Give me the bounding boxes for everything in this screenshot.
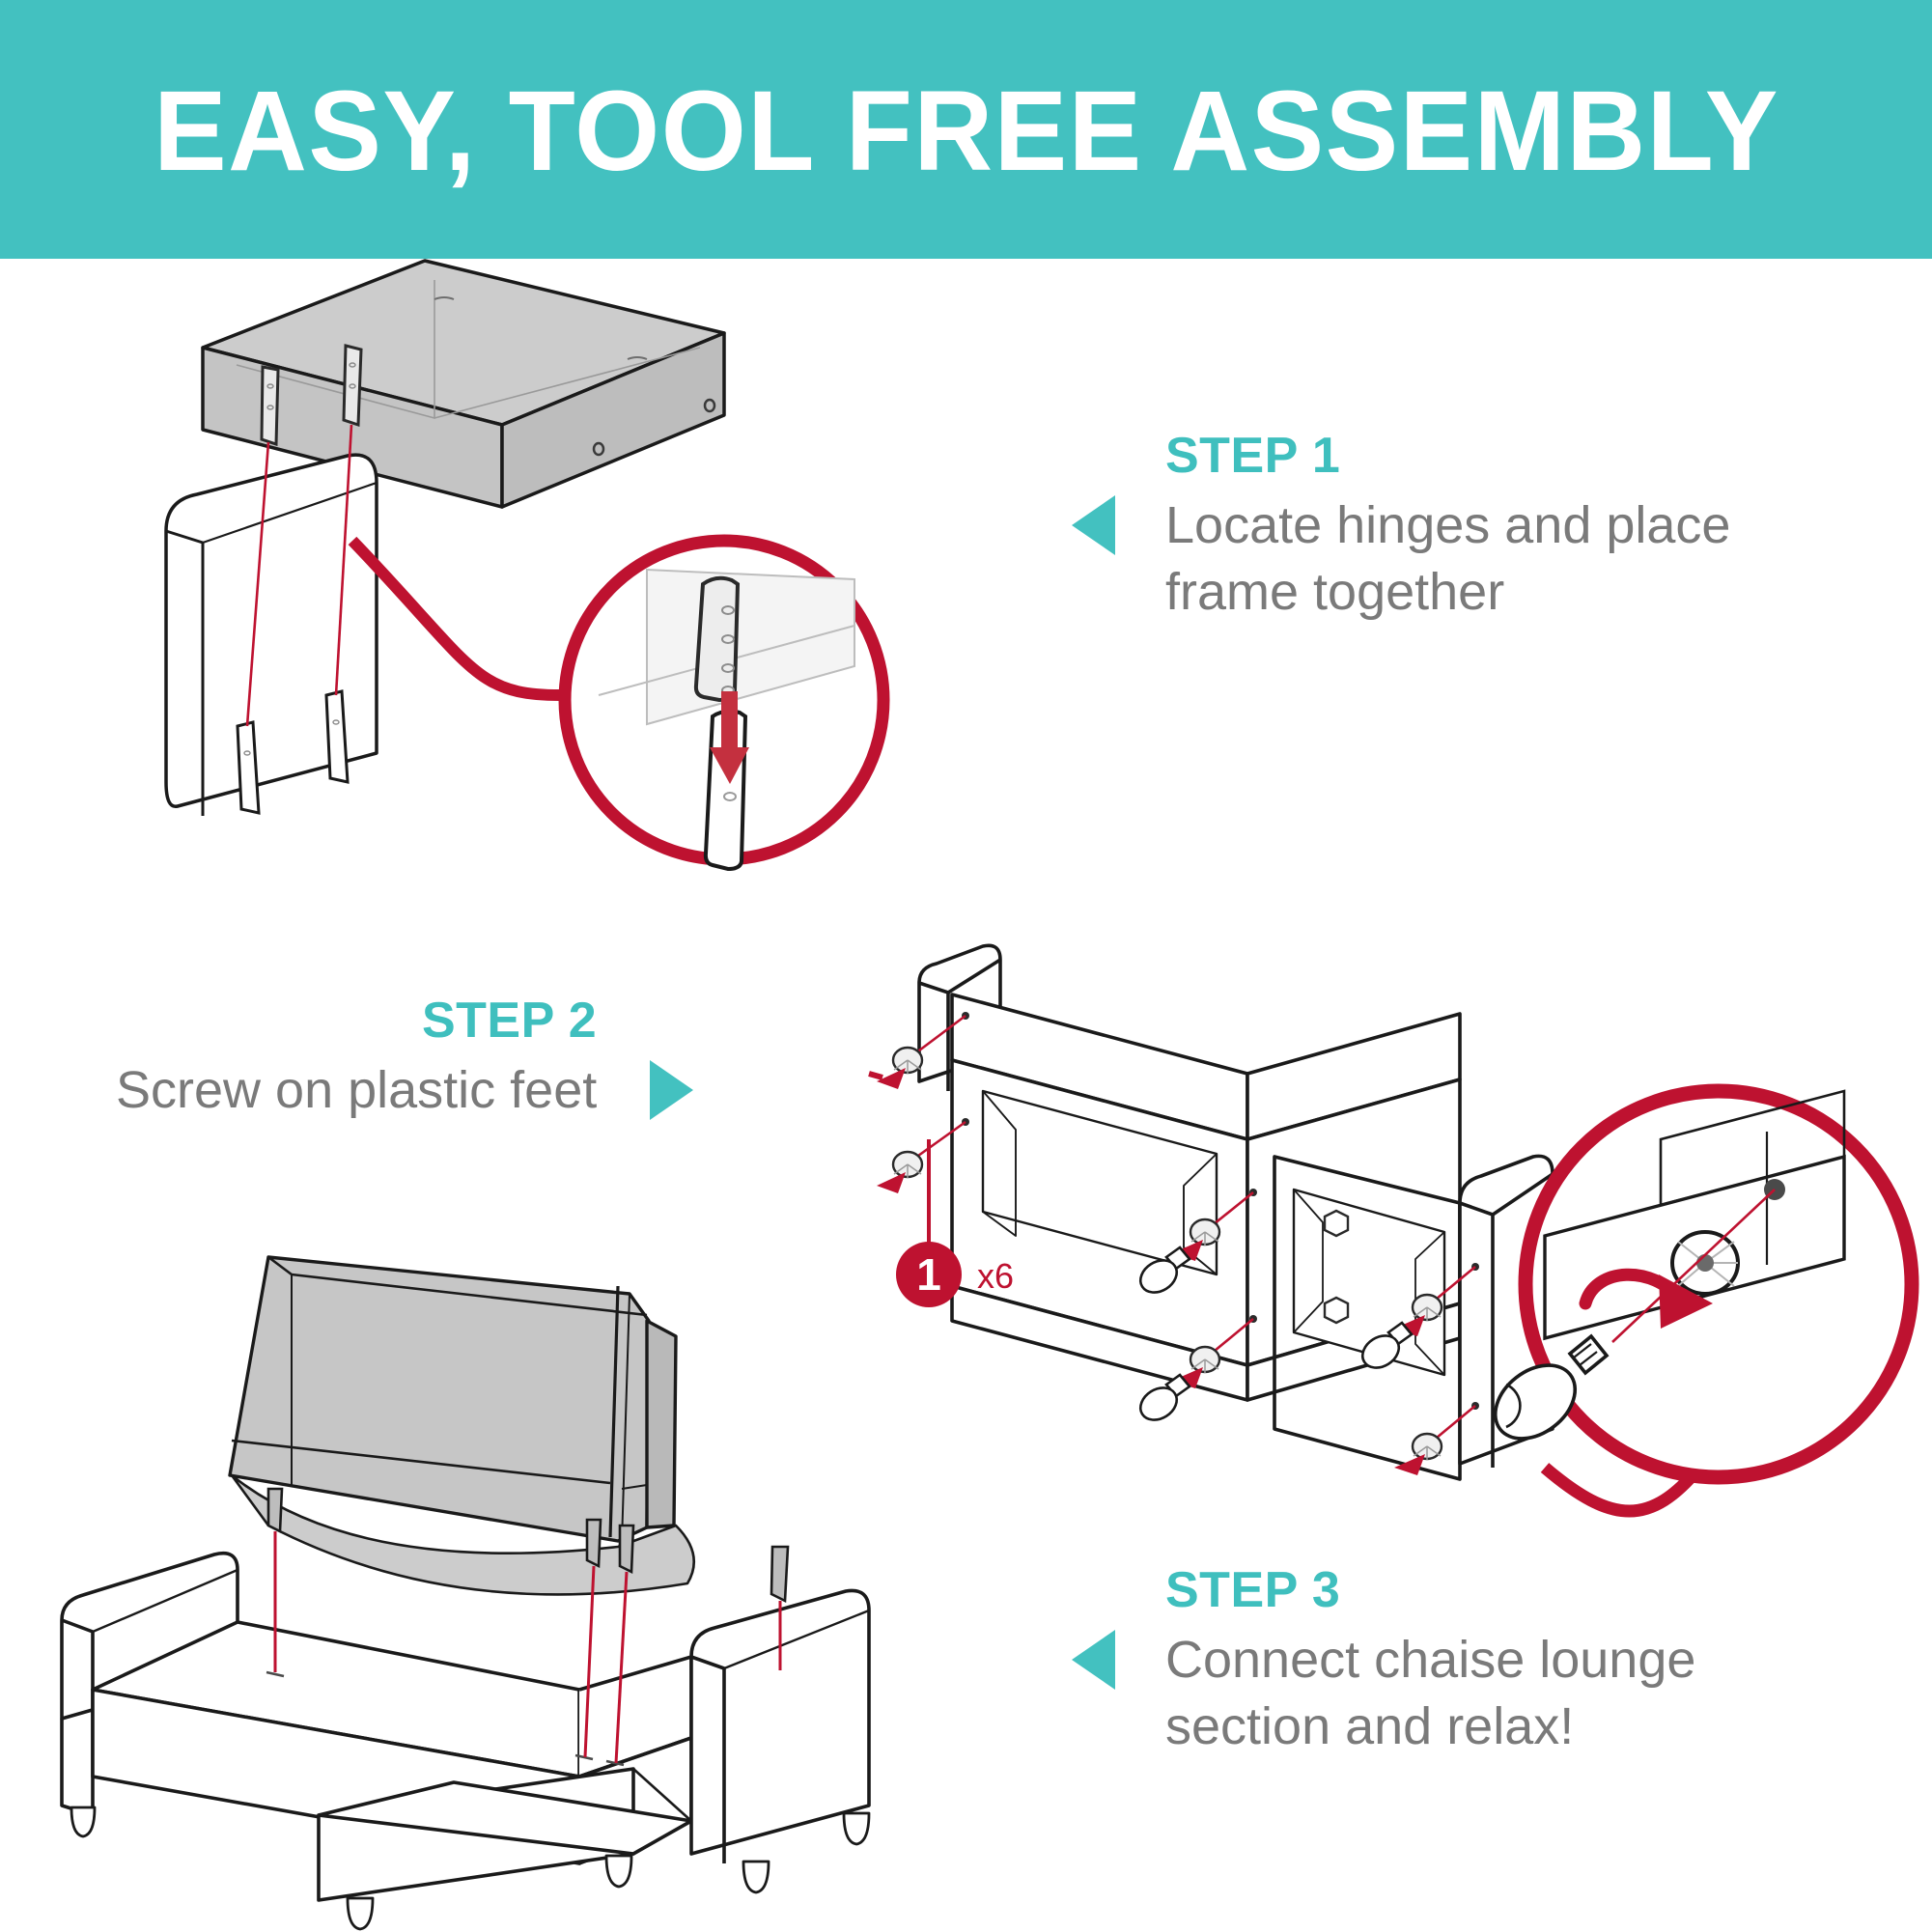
step-2-block: STEP 2 Screw on plastic feet (116, 994, 693, 1124)
page-title: EASY, TOOL FREE ASSEMBLY (154, 74, 1779, 188)
illustration-step-1 (145, 241, 966, 898)
step-1-body-line-1: Locate hinges and place (1165, 492, 1730, 559)
hinge-detail-zoom (565, 541, 883, 869)
step-1-block: STEP 1 Locate hinges and place frame tog… (1072, 430, 1730, 626)
illustration-step-2: 1 x6 (869, 850, 1931, 1545)
step-3-body-line-2: section and relax! (1165, 1694, 1695, 1760)
header-banner: EASY, TOOL FREE ASSEMBLY (0, 0, 1932, 259)
seat-box (203, 261, 724, 507)
triangle-left-icon (1072, 495, 1115, 555)
foot-screw-detail-zoom (1481, 1091, 1912, 1511)
step-1-body-line-2: frame together (1165, 559, 1730, 626)
detail-leader (352, 541, 560, 695)
sofa-body (62, 1554, 869, 1929)
part-badge-number: 1 (916, 1249, 941, 1300)
step-3-heading: STEP 3 (1165, 1564, 1695, 1617)
step-1-heading: STEP 1 (1165, 430, 1730, 483)
illustration-step-3 (39, 1236, 908, 1912)
step-3-block: STEP 3 Connect chaise lounge section and… (1072, 1564, 1695, 1760)
part-badge-quantity: x6 (977, 1256, 1014, 1296)
step-2-body-line-1: Screw on plastic feet (116, 1057, 597, 1124)
triangle-right-icon (650, 1060, 693, 1120)
step-2-heading: STEP 2 (422, 994, 597, 1048)
triangle-left-icon (1072, 1630, 1115, 1690)
step-3-body-line-1: Connect chaise lounge (1165, 1627, 1695, 1694)
